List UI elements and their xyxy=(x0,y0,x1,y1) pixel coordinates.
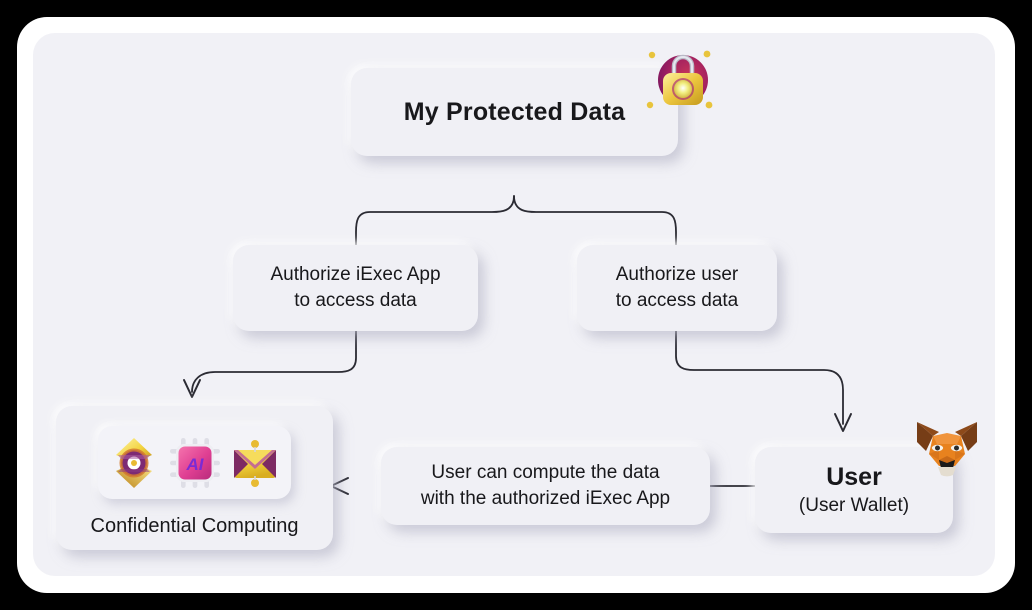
confidential-icon-tray: AI xyxy=(98,426,291,499)
iexec-eye-icon xyxy=(107,436,161,490)
node-confidential-computing[interactable]: AI xyxy=(56,406,333,550)
node-authorize-user[interactable]: Authorize user to access data xyxy=(577,245,777,331)
node-user-can-compute[interactable]: User can compute the data with the autho… xyxy=(381,447,710,525)
node-label-line2: to access data xyxy=(616,288,739,314)
wire-split-left xyxy=(356,196,514,245)
padlock-icon xyxy=(643,47,715,119)
wire-app-to-confidential xyxy=(192,331,356,392)
node-label-line2: with the authorized iExec App xyxy=(421,486,670,512)
node-authorize-iexec-app[interactable]: Authorize iExec App to access data xyxy=(233,245,478,331)
wire-user-branch xyxy=(676,331,843,424)
envelope-icon xyxy=(228,436,282,490)
node-label-line2: to access data xyxy=(294,288,417,314)
node-label-line1: User can compute the data xyxy=(431,460,659,486)
node-label-line1: Authorize iExec App xyxy=(270,262,440,288)
metamask-fox-icon xyxy=(913,420,981,482)
wire-split-right xyxy=(514,196,676,245)
node-my-protected-data[interactable]: My Protected Data xyxy=(351,68,678,156)
ai-chip-icon: AI xyxy=(168,436,222,490)
node-label: Confidential Computing xyxy=(91,515,299,538)
node-label: My Protected Data xyxy=(404,98,626,127)
node-title: User xyxy=(826,462,882,492)
svg-text:AI: AI xyxy=(185,455,204,474)
diagram-canvas: My Protected Data xyxy=(0,0,1032,610)
node-subtitle: (User Wallet) xyxy=(799,493,909,519)
node-label-line1: Authorize user xyxy=(616,262,739,288)
